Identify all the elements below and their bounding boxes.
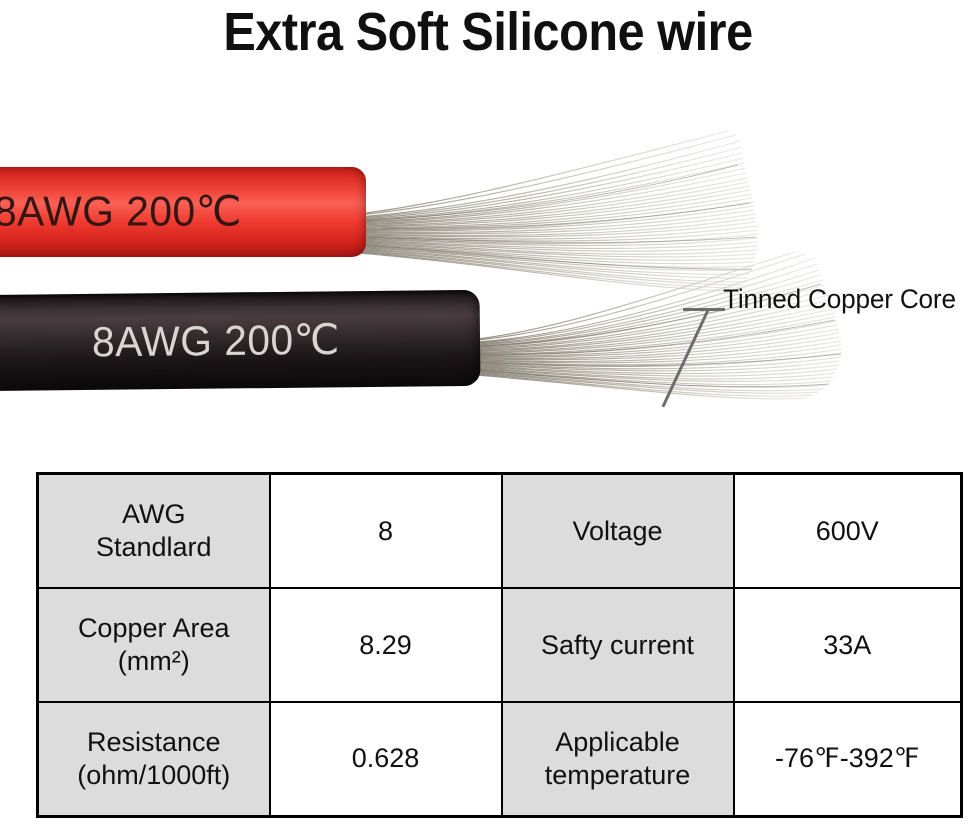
red-silicone-wire: 8AWG 200℃ <box>0 167 366 257</box>
table-row: Copper Area (mm²) 8.29 Safty current 33A <box>38 588 962 702</box>
product-photo: 8AWG 200℃ 8AWG 200℃ Tinned Copper Core <box>0 95 976 450</box>
spec-value-resistance: 0.628 <box>270 702 502 817</box>
spec-value-safety-current: 33A <box>734 588 962 702</box>
spec-label-awg-standard: AWG Standlard <box>38 474 270 589</box>
spec-label-voltage: Voltage <box>502 474 734 589</box>
spec-value-copper-area: 8.29 <box>270 588 502 702</box>
table-row: AWG Standlard 8 Voltage 600V <box>38 474 962 589</box>
callout-leader-line-horizontal <box>683 308 725 311</box>
black-wire-label: 8AWG 200℃ <box>92 315 340 367</box>
callout-leader-line-diagonal <box>661 308 709 407</box>
red-wire-label: 8AWG 200℃ <box>0 187 242 236</box>
specification-table: AWG Standlard 8 Voltage 600V Copper Area… <box>36 472 963 818</box>
black-silicone-wire: 8AWG 200℃ <box>0 290 480 391</box>
table-row: Resistance (ohm/1000ft) 0.628 Applicable… <box>38 702 962 817</box>
tinned-copper-core-callout: Tinned Copper Core <box>723 284 956 315</box>
spec-value-voltage: 600V <box>734 474 962 589</box>
black-wire-strand-fan <box>455 250 845 425</box>
spec-value-awg-standard: 8 <box>270 474 502 589</box>
spec-label-applicable-temperature: Applicable temperature <box>502 702 734 817</box>
red-wire-strand-fan <box>340 125 760 315</box>
spec-label-resistance: Resistance (ohm/1000ft) <box>38 702 270 817</box>
spec-label-copper-area: Copper Area (mm²) <box>38 588 270 702</box>
spec-value-applicable-temperature: -76℉-392℉ <box>734 702 962 817</box>
spec-label-safety-current: Safty current <box>502 588 734 702</box>
page-title: Extra Soft Silicone wire <box>49 4 927 61</box>
